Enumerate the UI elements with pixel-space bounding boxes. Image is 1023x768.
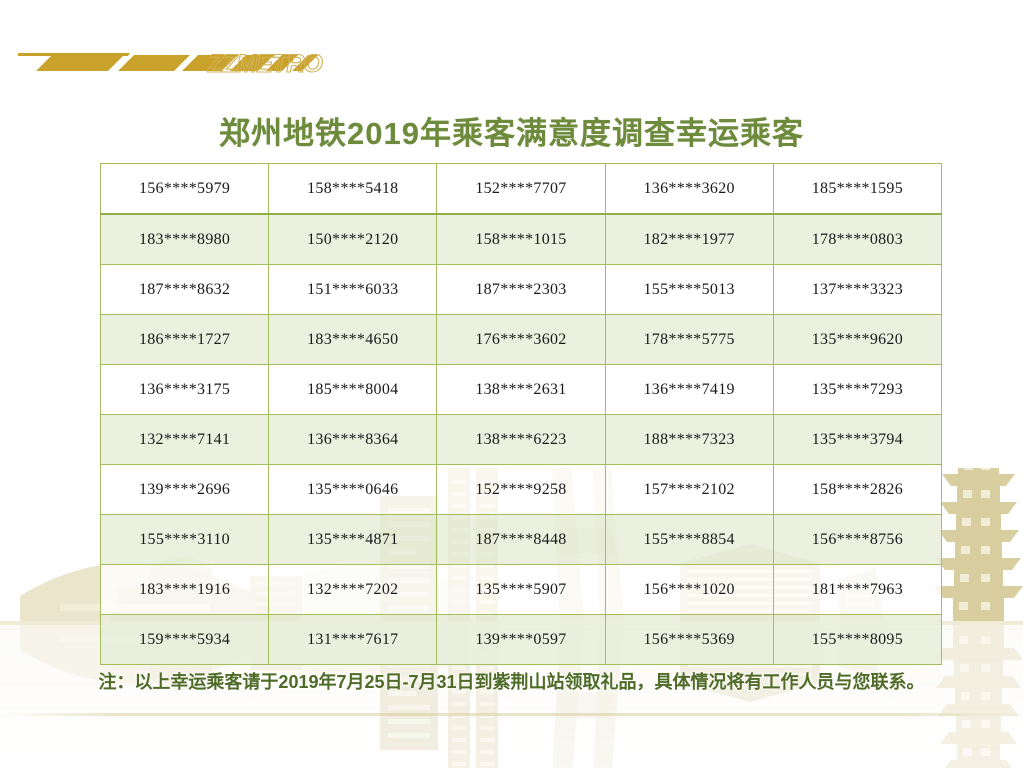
phone-cell: 136****7419 [605, 365, 773, 415]
phone-cell: 132****7141 [101, 415, 269, 465]
phone-cell: 155****8854 [605, 515, 773, 565]
table-row: 186****1727183****4650176****3602178****… [101, 315, 942, 365]
phone-cell: 176****3602 [437, 315, 605, 365]
table-row: 187****8632151****6033187****2303155****… [101, 265, 942, 315]
phone-cell: 155****8095 [773, 615, 941, 665]
phone-cell: 158****5418 [269, 164, 437, 215]
phone-cell: 181****7963 [773, 565, 941, 615]
phone-cell: 138****2631 [437, 365, 605, 415]
phone-cell: 156****5979 [101, 164, 269, 215]
phone-cell: 156****8756 [773, 515, 941, 565]
phone-cell: 158****2826 [773, 465, 941, 515]
phone-cell: 135****4871 [269, 515, 437, 565]
phone-cell: 137****3323 [773, 265, 941, 315]
phone-cell: 135****7293 [773, 365, 941, 415]
phone-cell: 185****8004 [269, 365, 437, 415]
phone-cell: 132****7202 [269, 565, 437, 615]
phone-cell: 131****7617 [269, 615, 437, 665]
phone-cell: 187****8448 [437, 515, 605, 565]
phone-cell: 136****3620 [605, 164, 773, 215]
phone-cell: 159****5934 [101, 615, 269, 665]
phone-cell: 188****7323 [605, 415, 773, 465]
table-row: 139****2696135****0646152****9258157****… [101, 465, 942, 515]
phone-cell: 136****8364 [269, 415, 437, 465]
phone-cell: 138****6223 [437, 415, 605, 465]
phone-cell: 178****5775 [605, 315, 773, 365]
phone-cell: 136****3175 [101, 365, 269, 415]
phone-cell: 156****1020 [605, 565, 773, 615]
phone-cell: 178****0803 [773, 214, 941, 265]
phone-cell: 185****1595 [773, 164, 941, 215]
lucky-passengers-table: 156****5979158****5418152****7707136****… [100, 163, 942, 665]
phone-cell: 152****7707 [437, 164, 605, 215]
table-row: 155****3110135****4871187****8448155****… [101, 515, 942, 565]
table-row: 159****5934131****7617139****0597156****… [101, 615, 942, 665]
zzmetro-logo: / ZZMETRO [12, 26, 352, 82]
phone-cell: 183****8980 [101, 214, 269, 265]
phone-cell: 135****9620 [773, 315, 941, 365]
phone-cell: 155****3110 [101, 515, 269, 565]
phone-cell: 182****1977 [605, 214, 773, 265]
table-row: 183****8980150****2120158****1015182****… [101, 214, 942, 265]
phone-cell: 155****5013 [605, 265, 773, 315]
phone-cell: 139****2696 [101, 465, 269, 515]
phone-cell: 152****9258 [437, 465, 605, 515]
ground-line [0, 713, 1023, 716]
phone-cell: 157****2102 [605, 465, 773, 515]
lucky-passengers-table-container: 156****5979158****5418152****7707136****… [100, 163, 942, 665]
phone-cell: 150****2120 [269, 214, 437, 265]
table-row: 183****1916132****7202135****5907156****… [101, 565, 942, 615]
page-title: 郑州地铁2019年乘客满意度调查幸运乘客 [0, 108, 1023, 153]
table-row: 132****7141136****8364138****6223188****… [101, 415, 942, 465]
phone-cell: 186****1727 [101, 315, 269, 365]
table-row: 156****5979158****5418152****7707136****… [101, 164, 942, 215]
phone-cell: 135****5907 [437, 565, 605, 615]
phone-cell: 135****3794 [773, 415, 941, 465]
phone-cell: 135****0646 [269, 465, 437, 515]
phone-cell: 187****2303 [437, 265, 605, 315]
phone-cell: 187****8632 [101, 265, 269, 315]
table-row: 136****3175185****8004138****2631136****… [101, 365, 942, 415]
phone-cell: 139****0597 [437, 615, 605, 665]
slide-canvas: / ZZMETRO 郑州地铁2019年乘客满意度调查幸运乘客 156****59… [0, 0, 1023, 768]
phone-cell: 183****1916 [101, 565, 269, 615]
phone-cell: 151****6033 [269, 265, 437, 315]
phone-cell: 158****1015 [437, 214, 605, 265]
phone-cell: 183****4650 [269, 315, 437, 365]
phone-cell: 156****5369 [605, 615, 773, 665]
zzmetro-wordmark: ZZMETRO [207, 50, 323, 78]
footer-note: 注：以上幸运乘客请于2019年7月25日-7月31日到紫荆山站领取礼品，具体情况… [0, 668, 1023, 694]
